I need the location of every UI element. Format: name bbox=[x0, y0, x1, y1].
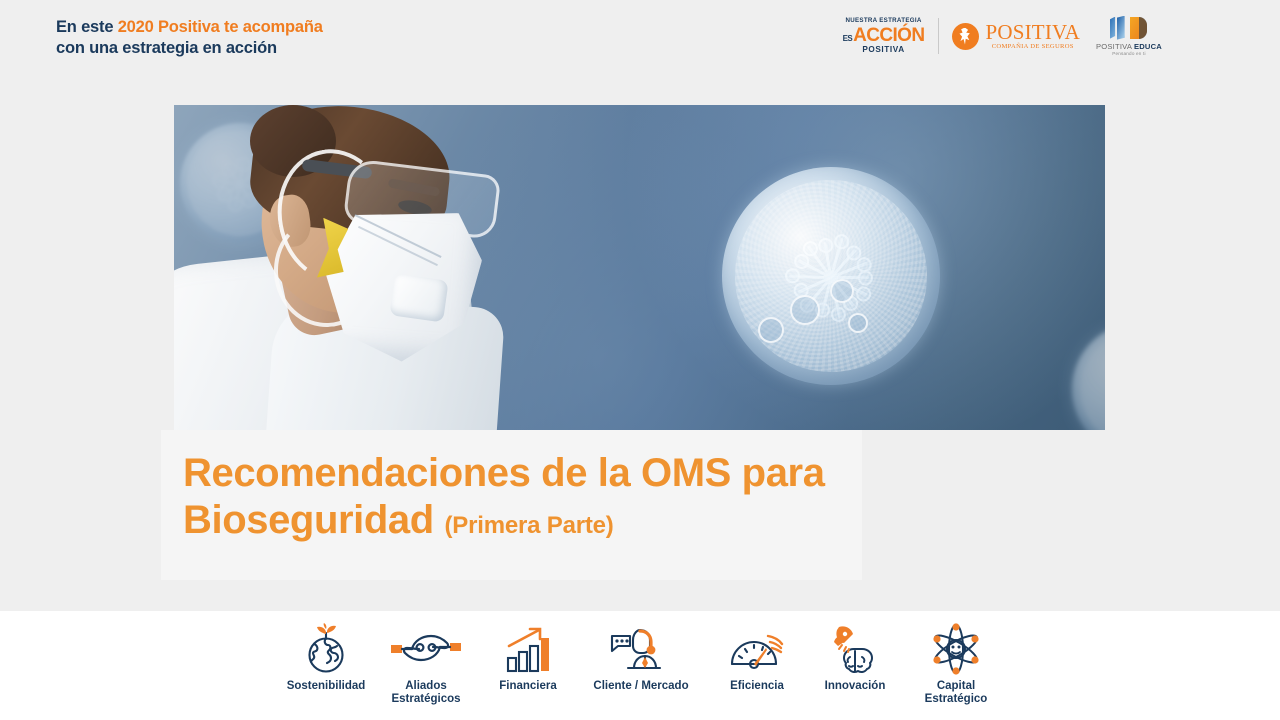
logo-nuestra-estrategia-es-accion-positiva: NUESTRA ESTRATEGIA ESACCIÓN POSITIVA bbox=[843, 18, 939, 53]
pillar-list: Sostenibilidad bbox=[295, 621, 995, 720]
logo-divider bbox=[938, 18, 939, 54]
page-title-line2: Bioseguridad bbox=[183, 498, 434, 542]
page-title-line1: Recomendaciones de la OMS para bbox=[183, 451, 825, 495]
handshake-icon bbox=[389, 621, 463, 677]
header: En este 2020 Positiva te acompaña con un… bbox=[0, 0, 1280, 70]
pillar-label: Sostenibilidad bbox=[287, 680, 366, 693]
pillar-label: Innovación bbox=[825, 680, 886, 693]
positiva-educa-name-light: POSITIVA bbox=[1096, 42, 1134, 51]
logo-accion-word: ACCIÓN bbox=[853, 26, 924, 45]
header-line1: En este 2020 Positiva te acompaña bbox=[56, 18, 323, 36]
slide: En este 2020 Positiva te acompaña con un… bbox=[0, 0, 1280, 720]
bar-chart-growth-icon bbox=[503, 621, 553, 677]
logo-accion-line3: POSITIVA bbox=[862, 46, 904, 54]
positiva-educa-glyph-icon bbox=[1110, 16, 1148, 40]
virus-particle-blurred-bottom-right bbox=[1072, 323, 1105, 430]
positiva-wordmark: POSITIVA COMPAÑIA DE SEGUROS bbox=[985, 22, 1080, 51]
rocket-brain-icon bbox=[828, 621, 882, 677]
pillar-label: Aliados Estratégicos bbox=[391, 680, 460, 706]
virus-particle-large bbox=[722, 167, 940, 385]
atom-smiley-icon bbox=[928, 621, 984, 677]
page-subtitle: (Primera Parte) bbox=[445, 512, 614, 539]
logo-positiva-educa: POSITIVA EDUCA Pensando en ti bbox=[1096, 16, 1162, 57]
hero-image bbox=[174, 105, 1105, 430]
header-line2: con una estrategia en acción bbox=[56, 39, 277, 57]
header-title: En este 2020 Positiva te acompaña con un… bbox=[56, 17, 323, 59]
pillar-capital-estrategico[interactable]: Capital Estratégico bbox=[917, 621, 995, 706]
logo-accion-line1: NUESTRA ESTRATEGIA bbox=[845, 18, 921, 25]
headset-agent-icon bbox=[610, 621, 672, 677]
positiva-educa-name: POSITIVA EDUCA bbox=[1096, 43, 1162, 51]
pillar-cliente-mercado[interactable]: Cliente / Mercado bbox=[586, 621, 696, 693]
pillar-aliados-estrategicos[interactable]: Aliados Estratégicos bbox=[382, 621, 470, 706]
pillar-label: Capital Estratégico bbox=[925, 680, 988, 706]
logo-positiva-compania-de-seguros: POSITIVA COMPAÑIA DE SEGUROS bbox=[952, 22, 1096, 51]
pillar-financiera[interactable]: Financiera bbox=[495, 621, 561, 693]
positiva-educa-tagline: Pensando en ti bbox=[1112, 52, 1145, 57]
positiva-name: POSITIVA bbox=[985, 22, 1080, 43]
header-line1-prefix: En este bbox=[56, 18, 118, 36]
positiva-educa-name-bold: EDUCA bbox=[1134, 42, 1162, 51]
positiva-flower-mark-icon bbox=[952, 23, 979, 50]
logo-accion-es: ES bbox=[843, 35, 852, 43]
pillar-eficiencia[interactable]: Eficiencia bbox=[721, 621, 793, 693]
healthcare-worker-figure bbox=[174, 105, 504, 430]
mask-exhalation-valve bbox=[389, 273, 448, 322]
pillar-innovacion[interactable]: Innovación bbox=[818, 621, 892, 693]
pillar-sostenibilidad[interactable]: Sostenibilidad bbox=[295, 621, 357, 693]
footer-pillars-bar: Sostenibilidad bbox=[0, 611, 1280, 720]
speedometer-icon bbox=[729, 621, 785, 677]
logo-accion-line2: ESACCIÓN bbox=[843, 26, 925, 45]
pillar-label: Eficiencia bbox=[730, 680, 784, 693]
pillar-label: Financiera bbox=[499, 680, 557, 693]
positiva-tagline: COMPAÑIA DE SEGUROS bbox=[985, 44, 1080, 51]
logo-bar: NUESTRA ESTRATEGIA ESACCIÓN POSITIVA POS… bbox=[843, 12, 1162, 60]
header-line1-accent: 2020 Positiva te acompaña bbox=[118, 18, 323, 36]
globe-leaf-icon bbox=[301, 621, 351, 677]
title-block: Recomendaciones de la OMS paraBiosegurid… bbox=[183, 450, 883, 544]
page-title: Recomendaciones de la OMS paraBiosegurid… bbox=[183, 450, 883, 544]
pillar-label: Cliente / Mercado bbox=[593, 680, 688, 693]
